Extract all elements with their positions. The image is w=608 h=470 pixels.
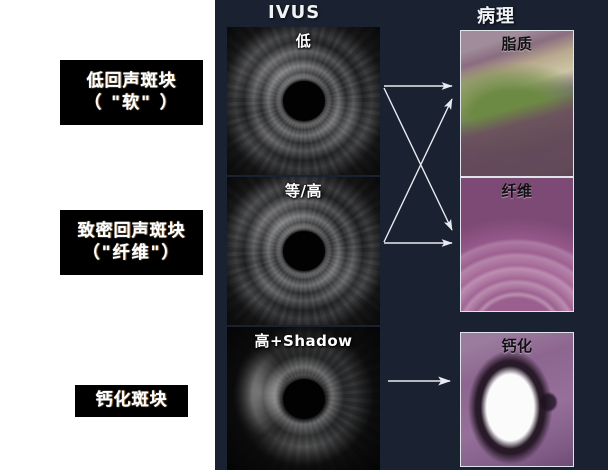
ivus-caption: 等/高 [227, 180, 380, 201]
column-heading-pathology: 病理 [477, 2, 515, 28]
catheter-lumen [283, 231, 325, 271]
label-line-secondary: （"纤维"） [83, 243, 181, 265]
ivus-caption: 高+Shadow [227, 330, 380, 351]
label-box-soft-plaque: 低回声斑块 （ "软" ） [60, 60, 203, 125]
ivus-image-fibrous-plaque: 等/高 [227, 177, 380, 325]
label-box-calcified-plaque: 钙化斑块 [75, 385, 188, 417]
slide-canvas: IVUS 病理 低回声斑块 （ "软" ） 致密回声斑块 （"纤维"） 钙化斑块… [0, 0, 608, 470]
pathology-caption: 钙化 [461, 335, 573, 356]
label-line-primary: 低回声斑块 [87, 71, 177, 93]
pathology-image-fibrous: 纤维 [460, 177, 574, 312]
ivus-image-soft-plaque: 低 [227, 27, 380, 175]
pathology-image-calcification: 钙化 [460, 332, 574, 467]
label-line-primary: 钙化斑块 [96, 390, 168, 412]
pathology-caption: 脂质 [461, 33, 573, 54]
ivus-image-calcified-plaque: 高+Shadow [227, 327, 380, 470]
pathology-image-lipid: 脂质 [460, 30, 574, 177]
label-box-fibrous-plaque: 致密回声斑块 （"纤维"） [60, 210, 203, 275]
label-line-secondary: （ "软" ） [84, 93, 179, 115]
catheter-lumen [283, 81, 325, 121]
label-line-primary: 致密回声斑块 [78, 221, 186, 243]
pathology-caption: 纤维 [461, 180, 573, 201]
catheter-lumen [283, 379, 325, 419]
column-heading-ivus: IVUS [268, 2, 320, 23]
ivus-caption: 低 [227, 30, 380, 51]
